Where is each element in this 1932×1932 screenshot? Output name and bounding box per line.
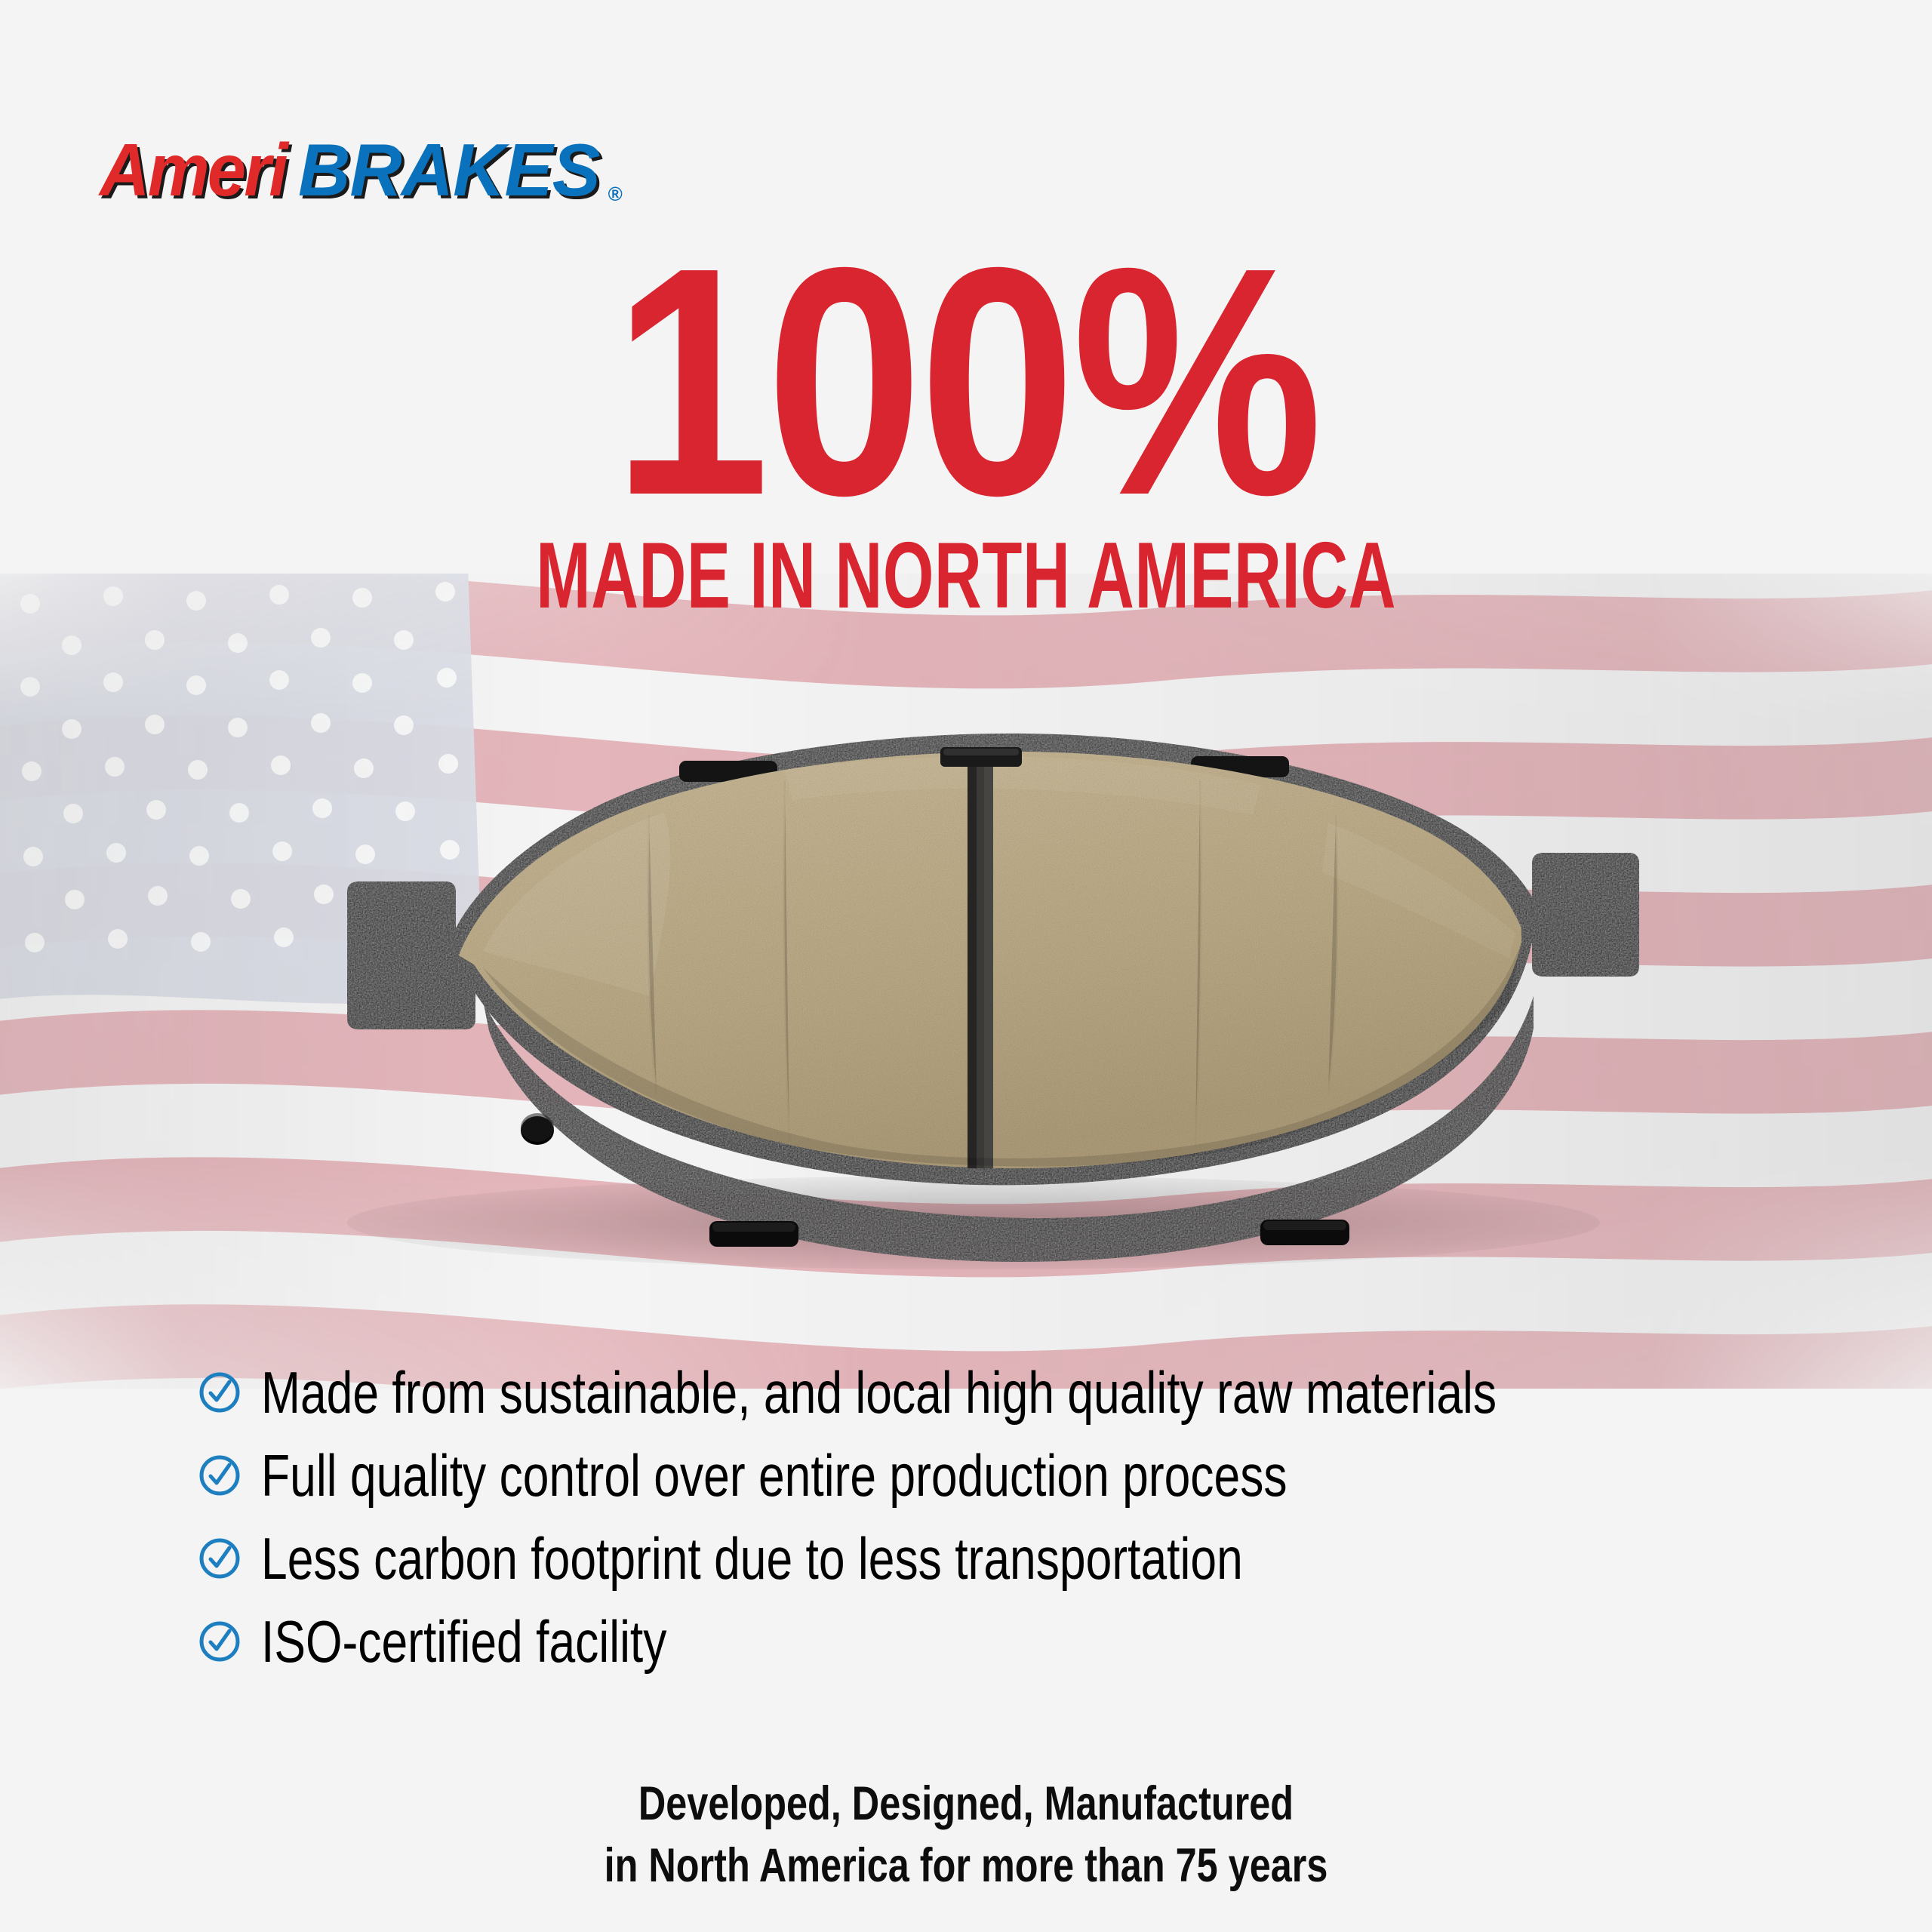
logo-text-brakes: BRAKES <box>298 133 600 207</box>
promo-banner: Ameri BRAKES ® <box>0 0 1932 1932</box>
page-subtitle: MADE IN NORTH AMERICA <box>536 529 1396 623</box>
check-circle-icon <box>198 1537 241 1580</box>
check-circle-icon <box>198 1371 241 1414</box>
list-item-label: ISO-certified facility <box>261 1612 666 1671</box>
list-item: ISO-certified facility <box>198 1600 1783 1683</box>
logo-text-ameri: Ameri <box>100 133 286 207</box>
headline-block: 100% MADE IN NORTH AMERICA <box>0 249 1932 623</box>
check-circle-icon <box>198 1620 241 1663</box>
list-item: Less carbon footprint due to less transp… <box>198 1517 1783 1600</box>
footer-line-1: Developed, Designed, Manufactured <box>193 1774 1739 1835</box>
list-item-label: Made from sustainable, and local high qu… <box>261 1363 1497 1422</box>
check-circle-icon <box>198 1454 241 1497</box>
brake-pad-image <box>257 702 1690 1275</box>
page-title-percent: 100% <box>613 249 1319 515</box>
footer-line-2: in North America for more than 75 years <box>193 1835 1739 1897</box>
brake-pad-graphic <box>257 702 1690 1275</box>
benefits-list: Made from sustainable, and local high qu… <box>198 1351 1783 1683</box>
list-item: Made from sustainable, and local high qu… <box>198 1351 1783 1434</box>
footer-block: Developed, Designed, Manufactured in Nor… <box>0 1774 1932 1897</box>
brand-logo: Ameri BRAKES ® <box>100 133 620 207</box>
list-item: Full quality control over entire product… <box>198 1434 1783 1517</box>
list-item-label: Full quality control over entire product… <box>261 1446 1287 1505</box>
list-item-label: Less carbon footprint due to less transp… <box>261 1529 1243 1588</box>
